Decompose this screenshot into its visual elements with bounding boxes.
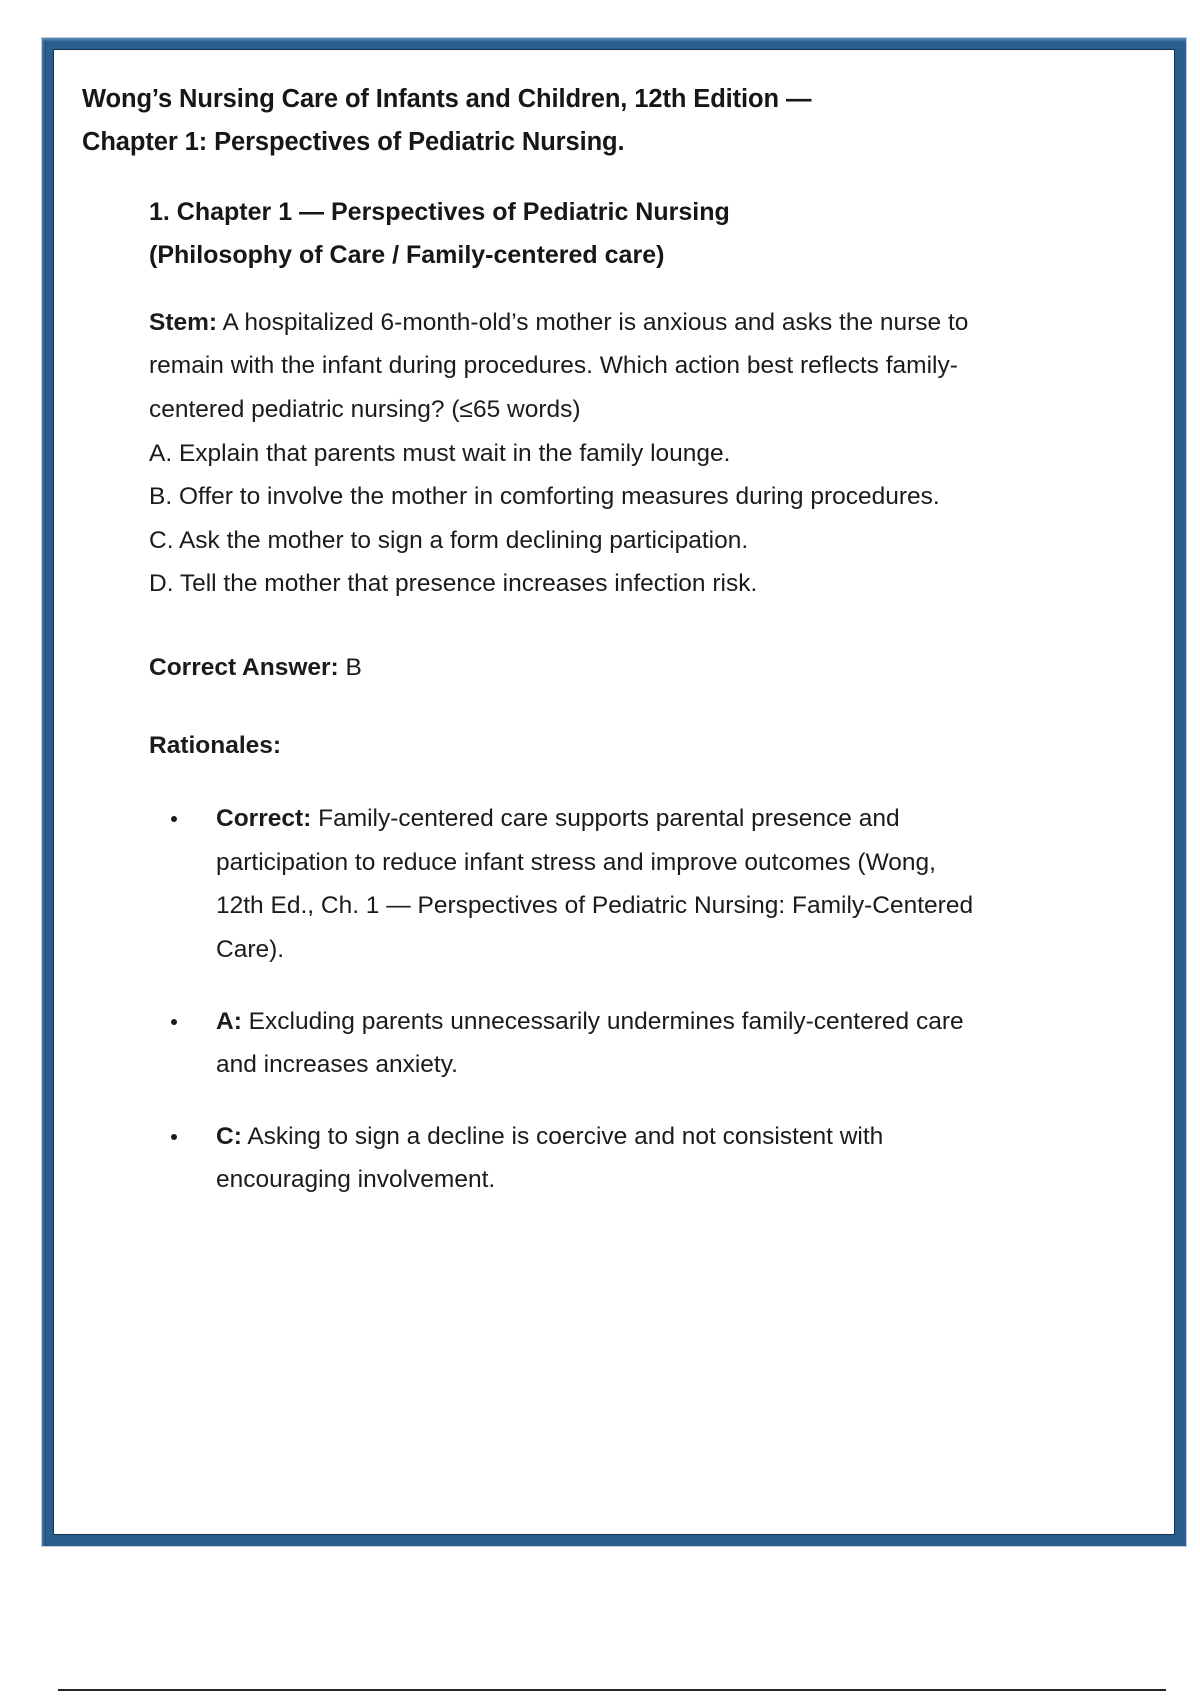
correct-answer-value: B [346,654,362,681]
document-body: Wong’s Nursing Care of Infants and Child… [82,78,982,1202]
document-title-line-1: Wong’s Nursing Care of Infants and Child… [82,85,811,113]
section-heading-line-1: 1. Chapter 1 — Perspectives of Pediatric… [149,198,730,226]
rationale-label: C: [216,1123,242,1150]
rationale-label: A: [216,1008,242,1035]
rationale-item-a: A: Excluding parents unnecessarily under… [149,1000,982,1087]
indented-content: 1. Chapter 1 — Perspectives of Pediatric… [149,191,982,1202]
document-title-line-2: Chapter 1: Perspectives of Pediatric Nur… [82,128,625,156]
rationales-heading: Rationales: [149,724,982,768]
answer-options: A. Explain that parents must wait in the… [149,432,982,606]
option-b: B. Offer to involve the mother in comfor… [149,475,982,519]
rationale-item-correct: Correct: Family-centered care supports p… [149,797,982,971]
bullet-dot-icon [171,1134,177,1140]
bullet-dot-icon [171,816,177,822]
footer-divider [58,1689,1166,1691]
rationales-list: Correct: Family-centered care supports p… [149,797,982,1202]
rationale-text: Family-centered care supports parental p… [216,805,973,963]
correct-answer-label: Correct Answer: [149,654,339,681]
document-title: Wong’s Nursing Care of Infants and Child… [82,78,982,165]
question-stem: Stem: A hospitalized 6-month-old’s mothe… [149,301,982,432]
rationale-label: Correct: [216,805,311,832]
section-heading: 1. Chapter 1 — Perspectives of Pediatric… [149,191,982,277]
stem-text: A hospitalized 6-month-old’s mother is a… [149,309,968,423]
option-c: C. Ask the mother to sign a form declini… [149,519,982,563]
stem-label: Stem: [149,309,217,336]
bullet-dot-icon [171,1019,177,1025]
option-d: D. Tell the mother that presence increas… [149,562,982,606]
rationale-text: Asking to sign a decline is coercive and… [216,1123,883,1194]
rationale-item-c: C: Asking to sign a decline is coercive … [149,1115,982,1202]
rationale-text: Excluding parents unnecessarily undermin… [216,1008,964,1079]
frame-top-highlight [42,38,1186,42]
correct-answer: Correct Answer: B [149,646,982,690]
frame-left-highlight [42,38,46,1546]
section-heading-line-2: (Philosophy of Care / Family-centered ca… [149,241,664,269]
option-a: A. Explain that parents must wait in the… [149,432,982,476]
